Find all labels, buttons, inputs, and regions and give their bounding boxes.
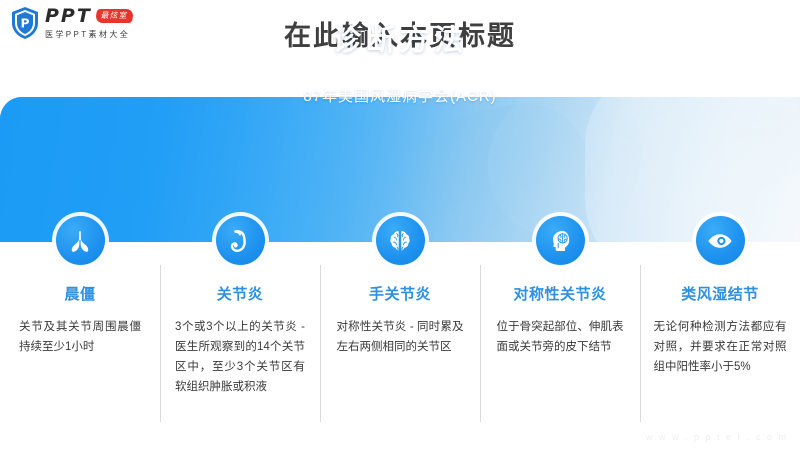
banner-text-group: 诊断方法 87年美国风湿病学会(ACR) — [0, 0, 800, 106]
eye-icon[interactable] — [696, 216, 745, 265]
column-divider — [640, 265, 641, 422]
banner-title: 诊断方法 — [0, 17, 800, 59]
column-divider — [480, 265, 481, 422]
feature-column-2[interactable]: 关节炎 3个或3个以上的关节炎 - 医生所观察到的14个关节区中，至少3个关节区… — [160, 216, 320, 431]
column-divider — [320, 265, 321, 422]
feature-column-4[interactable]: 对称性关节炎 位于骨突起部位、伸肌表面或关节旁的皮下结节 — [480, 216, 640, 431]
feature-body-4: 位于骨突起部位、伸肌表面或关节旁的皮下结节 — [497, 317, 624, 357]
site-watermark: w w w . p p t e r . c o m — [646, 432, 788, 442]
feature-title-2: 关节炎 — [217, 283, 264, 304]
feature-column-3[interactable]: 手关节炎 对称性关节炎 - 同时累及左右两侧相同的关节区 — [320, 216, 480, 431]
brain-icon[interactable] — [376, 216, 425, 265]
feature-body-3: 对称性关节炎 - 同时累及左右两侧相同的关节区 — [337, 317, 464, 357]
banner-divider — [294, 73, 507, 74]
feature-column-1[interactable]: 晨僵 关节及其关节周围晨僵持续至少1小时 — [0, 216, 160, 431]
feature-columns: 晨僵 关节及其关节周围晨僵持续至少1小时 关节炎 3个或3个以上的关节炎 - 医… — [0, 216, 800, 431]
feature-title-5: 类风湿结节 — [681, 283, 759, 304]
feature-title-1: 晨僵 — [64, 283, 95, 304]
lungs-icon[interactable] — [56, 216, 105, 265]
column-divider — [160, 265, 161, 422]
feature-title-3: 手关节炎 — [369, 283, 431, 304]
feature-body-2: 3个或3个以上的关节炎 - 医生所观察到的14个关节区中，至少3个关节区有软组织… — [175, 317, 305, 397]
slide-canvas: P PPT 最炫室 医学PPT素材大全 在此输入本页标题 诊断方法 87年美国风… — [0, 0, 800, 450]
feature-title-4: 对称性关节炎 — [513, 283, 606, 304]
feature-body-5: 无论何种检测方法都应有对照，并要求在正常对照组中阳性率小于5% — [654, 317, 787, 377]
feature-column-5[interactable]: 类风湿结节 无论何种检测方法都应有对照，并要求在正常对照组中阳性率小于5% — [640, 216, 800, 431]
feature-body-1: 关节及其关节周围晨僵持续至少1小时 — [19, 317, 141, 357]
banner-subtitle: 87年美国风湿病学会(ACR) — [0, 85, 800, 106]
stomach-icon[interactable] — [216, 216, 265, 265]
head-brain-icon[interactable] — [536, 216, 585, 265]
